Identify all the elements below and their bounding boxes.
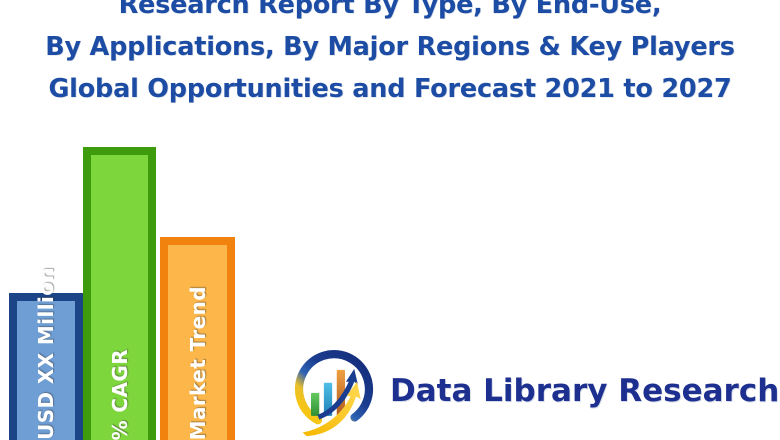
bar-market-trend: Market Trend bbox=[160, 237, 235, 440]
bar-usd-million-fill bbox=[17, 301, 75, 440]
data-library-research-logo-icon bbox=[288, 345, 380, 437]
bar-cagr-fill bbox=[91, 155, 148, 440]
banner-heading-block: Research Report By Type, By End-Use, By … bbox=[0, 0, 780, 110]
market-report-banner: Research Report By Type, By End-Use, By … bbox=[0, 0, 780, 440]
brand-name: Data Library Research bbox=[390, 373, 779, 409]
company-logo: Data Library Research bbox=[288, 342, 720, 440]
bar-market-trend-fill bbox=[168, 245, 227, 440]
heading-line-1: Research Report By Type, By End-Use, bbox=[0, 0, 780, 26]
heading-line-2: By Applications, By Major Regions & Key … bbox=[0, 26, 780, 68]
heading-line-3: Global Opportunities and Forecast 2021 t… bbox=[0, 68, 780, 110]
bar-usd-million: USD XX Million bbox=[9, 293, 83, 440]
bar-cagr: % CAGR bbox=[83, 147, 156, 440]
